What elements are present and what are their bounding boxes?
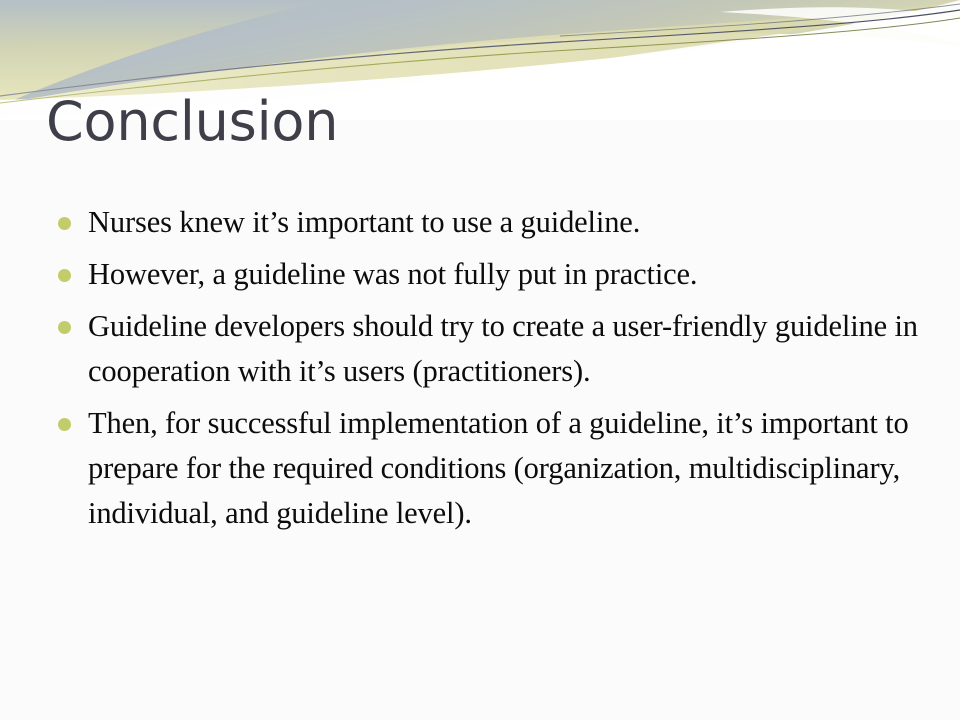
list-item-text: Then, for successful implementation of a… [88, 401, 926, 536]
bullet-point-icon [58, 418, 71, 431]
list-item: Guideline developers should try to creat… [46, 304, 926, 394]
page-title: Conclusion [46, 93, 906, 151]
list-item: Then, for successful implementation of a… [46, 401, 926, 536]
list-item: Nurses knew it’s important to use a guid… [46, 200, 926, 245]
bullet-point-icon [58, 321, 71, 334]
bullet-point-icon [58, 217, 71, 230]
list-item: However, a guideline was not fully put i… [46, 252, 926, 297]
list-item-text: Guideline developers should try to creat… [88, 304, 926, 394]
bullet-point-icon [58, 269, 71, 282]
slide-body-content: Nurses knew it’s important to use a guid… [46, 200, 926, 536]
presentation-slide: Conclusion Nurses knew it’s important to… [0, 0, 960, 720]
list-item-text: However, a guideline was not fully put i… [88, 252, 926, 297]
slide-title-block: Conclusion [46, 93, 906, 151]
list-item-text: Nurses knew it’s important to use a guid… [88, 200, 926, 245]
